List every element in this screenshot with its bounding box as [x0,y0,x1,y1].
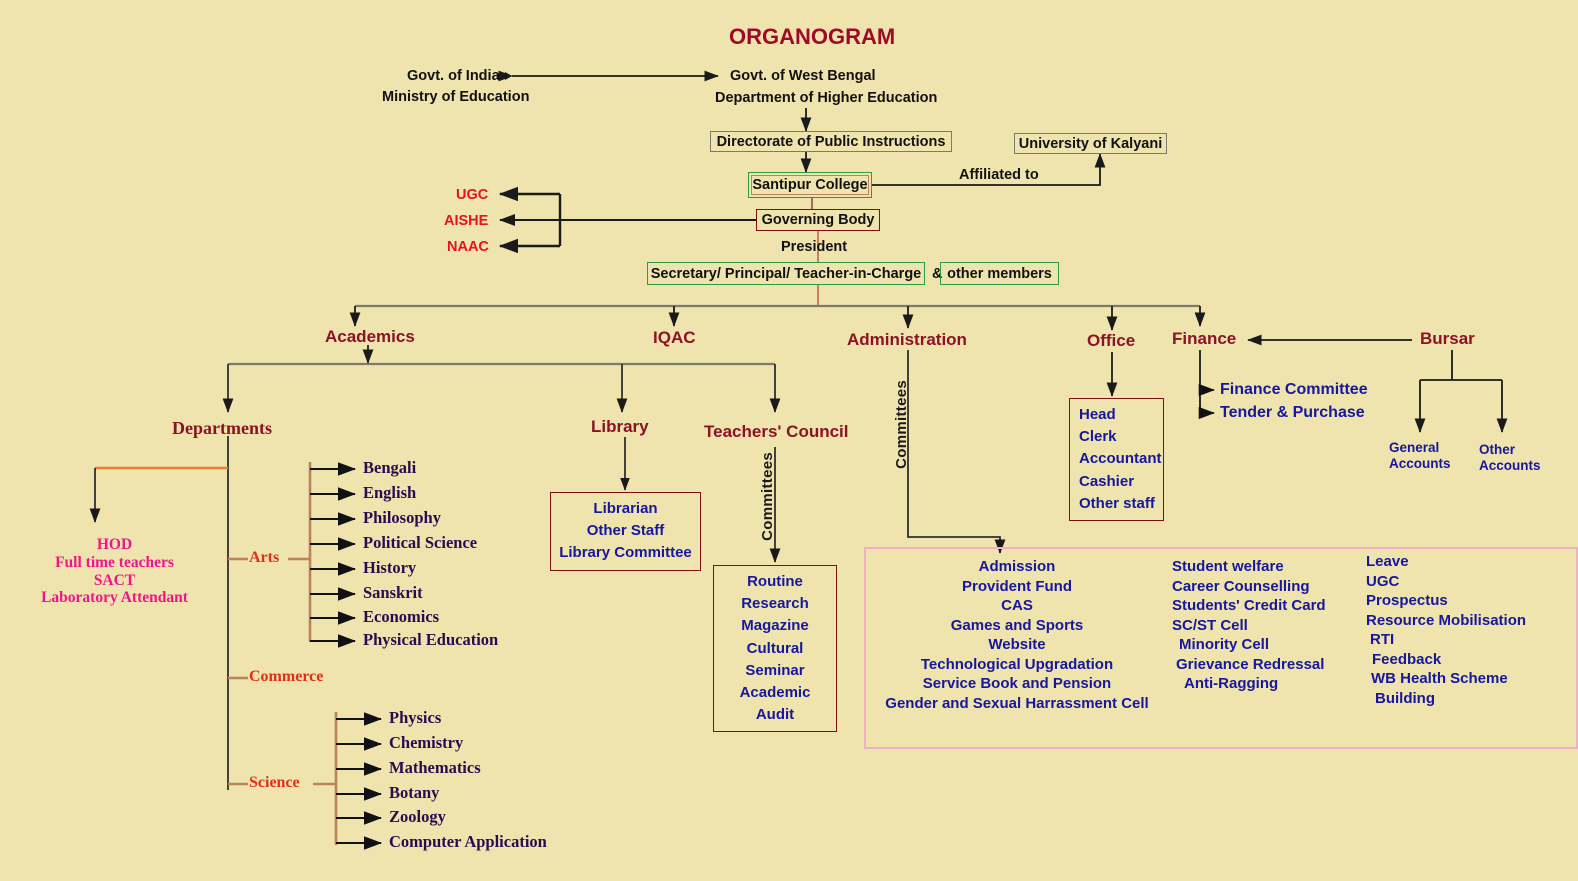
dept-botany: Botany [389,784,439,803]
staff-laboratory-attendant: Laboratory Attendant [22,589,207,607]
office-cashier: Cashier [1079,471,1155,493]
committee-rti: RTI [1366,630,1566,650]
branch-bursar-label: Bursar [1420,329,1475,349]
office-box: Head Clerk Accountant Cashier Other staf… [1069,398,1164,521]
committee-minority-cell: Minority Cell [1172,635,1372,655]
branch-office-label: Office [1087,331,1135,351]
library-librarian: Librarian [559,498,692,520]
university-label: University of Kalyani [1019,136,1162,152]
stream-commerce-label: Commerce [249,668,323,686]
directorate-box: Directorate of Public Instructions [710,131,952,152]
departments-label: Departments [172,418,272,439]
library-box: Librarian Other Staff Library Committee [550,492,701,571]
tc-magazine: Magazine [722,615,828,637]
page-title: ORGANOGRAM [729,24,895,49]
bursar-other-accounts: Other Accounts [1479,442,1541,473]
branch-iqac-label: IQAC [653,328,696,348]
committee-wb-health-scheme: WB Health Scheme [1366,669,1566,689]
ministry-of-education-label: Ministry of Education [382,89,529,106]
tc-cultural: Cultural [722,638,828,660]
finance-committee-label: Finance Committee [1220,381,1368,399]
santipur-college-box: Santipur College [748,172,872,198]
office-head-clerk: Head Clerk [1079,404,1155,448]
committee-grievance-redressal: Grievance Redressal [1172,655,1372,675]
stream-arts-label: Arts [249,549,279,567]
staff-list: HOD Full time teachers SACT Laboratory A… [22,536,207,607]
tc-routine: Routine [722,571,828,593]
staff-full-time-teachers: Full time teachers [22,554,207,572]
general-accounts-line2: Accounts [1389,456,1451,472]
dept-chemistry: Chemistry [389,734,463,753]
secretary-principal-box: Secretary/ Principal/ Teacher-in-Charge [647,262,925,285]
govt-of-india-label: Govt. of India [407,68,500,85]
committee-games-and-sports: Games and Sports [872,616,1162,636]
dept-economics: Economics [363,608,439,627]
governing-body-box: Governing Body [756,209,880,231]
committee-column-1: Admission Provident Fund CAS Games and S… [872,557,1162,713]
committee-service-book-and-pension: Service Book and Pension [872,674,1162,694]
dept-physics: Physics [389,709,441,728]
committee-student-welfare: Student welfare [1172,557,1372,577]
committee-cas: CAS [872,596,1162,616]
tc-research: Research [722,593,828,615]
committee-career-counselling: Career Counselling [1172,577,1372,597]
stream-science-label: Science [249,774,300,792]
dept-physical-education: Physical Education [363,631,498,650]
committee-sc-st-cell: SC/ST Cell [1172,616,1372,636]
teachers-council-box: Routine Research Magazine Cultural Semin… [713,565,837,732]
committee-prospectus: Prospectus [1366,591,1566,611]
library-committee: Library Committee [559,542,692,564]
president-label: President [781,239,847,256]
agency-ugc-label: UGC [456,187,488,204]
agency-naac-label: NAAC [447,239,489,256]
branch-academics-label: Academics [325,327,415,347]
branch-administration-label: Administration [847,330,967,350]
staff-sact: SACT [22,572,207,590]
committee-building: Building [1366,689,1566,709]
santipur-college-label: Santipur College [752,177,867,193]
dept-philosophy: Philosophy [363,509,441,528]
branch-finance-label: Finance [1172,329,1236,349]
dept-sanskrit: Sanskrit [363,584,423,603]
directorate-label: Directorate of Public Instructions [717,134,946,150]
administration-committees-label: Committees [893,380,910,469]
committee-feedback: Feedback [1366,650,1566,670]
dept-history: History [363,559,416,578]
library-other-staff: Other Staff [559,520,692,542]
dept-zoology: Zoology [389,808,446,827]
committee-column-2: Student welfare Career Counselling Stude… [1172,557,1372,694]
committee-anti-ragging: Anti-Ragging [1172,674,1372,694]
committee-provident-fund: Provident Fund [872,577,1162,597]
committee-leave: Leave [1366,552,1566,572]
other-accounts-line1: Other [1479,442,1541,458]
other-accounts-line2: Accounts [1479,458,1541,474]
teachers-council-committees-label: Committees [759,452,776,541]
dept-political-science: Political Science [363,534,477,553]
dept-computer-application: Computer Application [389,833,547,852]
tender-and-purchase-label: Tender & Purchase [1220,404,1365,422]
committee-students-credit-card: Students' Credit Card [1172,596,1372,616]
dept-mathematics: Mathematics [389,759,481,778]
committee-gender-and-sexual-harrassment-cell: Gender and Sexual Harrassment Cell [872,694,1162,714]
library-label: Library [591,417,649,437]
committee-column-3: Leave UGC Prospectus Resource Mobilisati… [1366,552,1566,708]
committee-resource-mobilisation: Resource Mobilisation [1366,611,1566,631]
office-accountant: Accountant [1079,448,1155,470]
dept-bengali: Bengali [363,459,416,478]
committee-ugc: UGC [1366,572,1566,592]
office-other-staff: Other staff [1079,493,1155,515]
governing-body-label: Governing Body [762,212,875,228]
committee-admission: Admission [872,557,1162,577]
organogram-canvas: ORGANOGRAM Govt. of India Ministry of Ed… [0,0,1578,881]
affiliated-to-label: Affiliated to [959,167,1039,184]
dept-english: English [363,484,416,503]
agency-aishe-label: AISHE [444,213,488,230]
tc-academic-audit: Academic Audit [722,682,828,726]
committee-technological-upgradation: Technological Upgradation [872,655,1162,675]
govt-of-west-bengal-label: Govt. of West Bengal [730,68,876,85]
secretary-label: Secretary/ Principal/ Teacher-in-Charge [651,266,922,282]
bursar-general-accounts: General Accounts [1389,440,1451,471]
dept-higher-education-label: Department of Higher Education [715,90,937,107]
other-members-box: other members [940,262,1059,285]
teachers-council-label: Teachers' Council [704,422,849,442]
staff-hod: HOD [22,536,207,554]
university-of-kalyani-box: University of Kalyani [1014,133,1167,154]
other-members-label: other members [947,266,1052,282]
committee-website: Website [872,635,1162,655]
tc-seminar: Seminar [722,660,828,682]
general-accounts-line1: General [1389,440,1451,456]
